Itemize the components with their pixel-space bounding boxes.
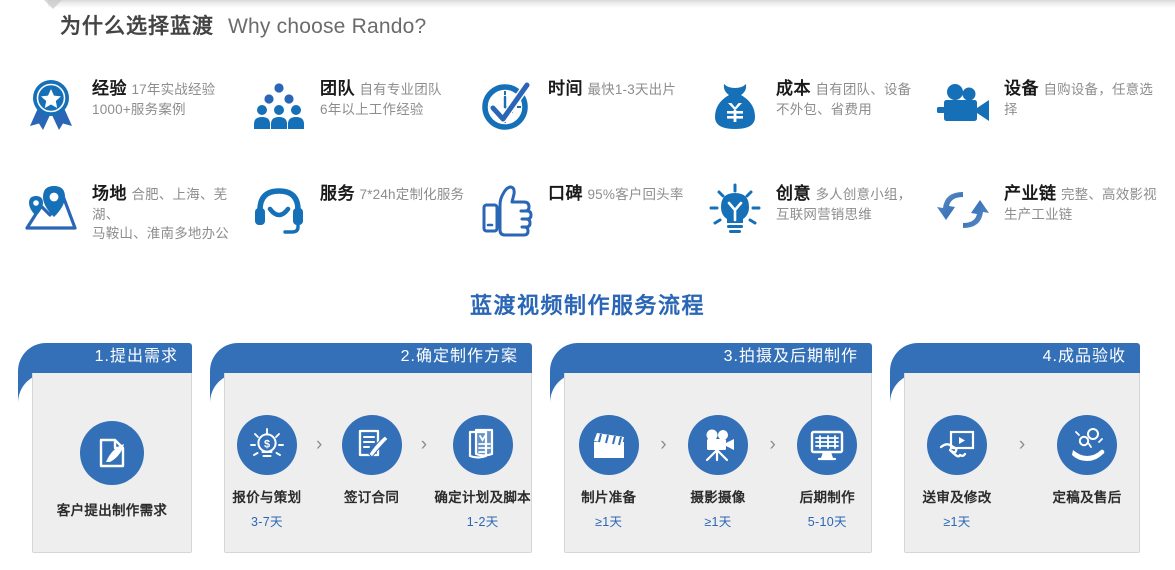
- process-step-list: 客户提出制作需求: [33, 421, 191, 539]
- process-card-body: 制片准备 ≥1天 ›: [564, 373, 872, 553]
- feature-item: 口碑 95%客户回头率: [478, 175, 706, 275]
- process-step-label: 定稿及售后: [1053, 486, 1122, 506]
- process-step[interactable]: 制片准备 ≥1天: [565, 415, 652, 530]
- feature-item: 产业链 完整、高效影视 生产工业链: [934, 175, 1162, 275]
- process-card-header: 1.提出需求: [18, 343, 192, 373]
- process-card-header: 3.拍摄及后期制作: [550, 343, 872, 373]
- process-step-label: 摄影摄像: [690, 486, 745, 506]
- movie-camera-icon: [688, 415, 748, 475]
- card-corner-curve: [18, 373, 33, 405]
- map-pin-icon: [22, 181, 80, 239]
- feature-item: 团队 自有专业团队 6年以上工作经验: [250, 70, 478, 175]
- process-step[interactable]: 签订合同: [330, 415, 414, 526]
- process-step[interactable]: 摄影摄像 ≥1天: [674, 415, 761, 530]
- feature-item: 成本 自有团队、设备 不外包、省费用: [706, 70, 934, 175]
- bulb-dollar-icon: $: [237, 415, 297, 475]
- card-corner-curve: [890, 373, 905, 405]
- top-notch-marker: [44, 0, 62, 9]
- feature-title: 经验: [92, 79, 127, 98]
- process-step[interactable]: 定稿及售后: [1035, 415, 1139, 526]
- process-step-label: 制片准备: [581, 486, 636, 506]
- process-card-label: 1.提出需求: [95, 349, 178, 365]
- process-step[interactable]: 送审及修改 ≥1天: [905, 415, 1009, 530]
- feature-title: 设备: [1004, 79, 1039, 98]
- clock-check-icon: [478, 76, 536, 134]
- feature-grid: 经验 17年实战经验 1000+服务案例: [22, 70, 1162, 275]
- process-step-list: 送审及修改 ≥1天 ›: [905, 415, 1139, 530]
- process-card-3: 3.拍摄及后期制作: [550, 343, 872, 553]
- feature-desc: 7*24h定制化服务: [359, 187, 464, 202]
- video-camera-icon: [934, 76, 992, 134]
- feature-item: 经验 17年实战经验 1000+服务案例: [22, 70, 250, 175]
- process-card-body: 送审及修改 ≥1天 ›: [904, 373, 1140, 553]
- feature-title: 口碑: [548, 184, 583, 203]
- feature-title: 创意: [776, 184, 811, 203]
- chevron-right-icon: ›: [1009, 415, 1035, 475]
- process-step-list: $ 报价与策划 3-7天 ›: [225, 415, 531, 530]
- chevron-right-icon: ›: [413, 415, 434, 475]
- feature-item: 服务 7*24h定制化服务: [250, 175, 478, 275]
- process-card-2: 2.确定制作方案 $: [210, 343, 532, 553]
- process-card-header: 2.确定制作方案: [210, 343, 532, 373]
- recycle-arrows-icon: [934, 181, 992, 239]
- process-step-label: 确定计划及脚本: [434, 486, 531, 506]
- script-docs-icon: [453, 415, 513, 475]
- handshake-screen-icon: [927, 415, 987, 475]
- feature-item: 场地 合肥、上海、芜湖、 马鞍山、淮南多地办公: [22, 175, 250, 275]
- chevron-right-icon: ›: [762, 415, 784, 475]
- process-step-days: 5-10天: [808, 511, 847, 530]
- process-card-body: 客户提出制作需求: [32, 373, 192, 553]
- hand-coins-icon: [1057, 415, 1117, 475]
- section-heading-cn: 为什么选择蓝渡: [60, 10, 214, 40]
- process-card-1: 1.提出需求 客户提出制作需求: [18, 343, 192, 553]
- feature-title: 时间: [548, 79, 583, 98]
- process-step-label: 签订合同: [344, 486, 399, 506]
- feature-desc: 95%客户回头率: [587, 187, 683, 202]
- process-card-label: 4.成品验收: [1043, 349, 1126, 365]
- section-heading-en: Why choose Rando?: [228, 15, 426, 39]
- process-step-label: 后期制作: [800, 486, 855, 506]
- process-card-label: 3.拍摄及后期制作: [724, 349, 858, 365]
- process-card-body: $ 报价与策划 3-7天 ›: [224, 373, 532, 553]
- process-step-days: 1-2天: [467, 511, 499, 530]
- process-card-label: 2.确定制作方案: [401, 349, 518, 365]
- feature-desc: 最快1-3天出片: [587, 82, 676, 97]
- headset-icon: [250, 181, 308, 239]
- chevron-right-icon: ›: [309, 415, 330, 475]
- feature-title: 成本: [776, 79, 811, 98]
- process-step-days: ≥1天: [704, 511, 731, 530]
- feature-item: 设备 自购设备，任意选择: [934, 70, 1162, 175]
- process-step-list: 制片准备 ≥1天 ›: [565, 415, 871, 530]
- process-step[interactable]: 后期制作 5-10天: [784, 415, 871, 530]
- clapperboard-icon: [579, 415, 639, 475]
- process-card-row: 1.提出需求 客户提出制作需求: [18, 343, 1140, 553]
- feature-title: 服务: [320, 184, 355, 203]
- card-corner-curve: [210, 373, 225, 405]
- feature-item: 创意 多人创意小组， 互联网营销思维: [706, 175, 934, 275]
- process-section-title: 蓝渡视频制作服务流程: [0, 288, 1175, 320]
- process-card-header: 4.成品验收: [890, 343, 1140, 373]
- feature-title: 场地: [92, 184, 127, 203]
- feature-title: 产业链: [1004, 184, 1057, 203]
- process-step-days: ≥1天: [595, 511, 622, 530]
- process-step[interactable]: 客户提出制作需求: [33, 421, 191, 539]
- document-pen-icon: [80, 421, 144, 485]
- chevron-right-icon: ›: [652, 415, 674, 475]
- feature-item: 时间 最快1-3天出片: [478, 70, 706, 175]
- thumbs-up-icon: [478, 181, 536, 239]
- process-step-days: ≥1天: [943, 511, 970, 530]
- process-step-label: 送审及修改: [923, 486, 992, 506]
- money-bag-icon: [706, 76, 764, 134]
- medal-icon: [22, 76, 80, 134]
- top-shadow-strip: [0, 0, 1175, 8]
- contract-sign-icon: [342, 415, 402, 475]
- process-step-label: 报价与策划: [232, 486, 301, 506]
- monitor-edit-icon: [797, 415, 857, 475]
- process-step-days: 3-7天: [251, 511, 283, 530]
- team-icon: [250, 76, 308, 134]
- feature-title: 团队: [320, 79, 355, 98]
- section-heading: 为什么选择蓝渡 Why choose Rando?: [60, 10, 426, 40]
- card-corner-curve: [550, 373, 565, 405]
- process-card-4: 4.成品验收 送审及修改 ≥1天: [890, 343, 1140, 553]
- page-root: 为什么选择蓝渡 Why choose Rando? 经验 17年实战经验 100…: [0, 0, 1175, 570]
- process-step[interactable]: $ 报价与策划 3-7天: [225, 415, 309, 530]
- process-step[interactable]: 确定计划及脚本 1-2天: [434, 415, 531, 530]
- lightbulb-icon: [706, 181, 764, 239]
- process-step-label: 客户提出制作需求: [57, 499, 167, 519]
- svg-text:$: $: [264, 439, 270, 451]
